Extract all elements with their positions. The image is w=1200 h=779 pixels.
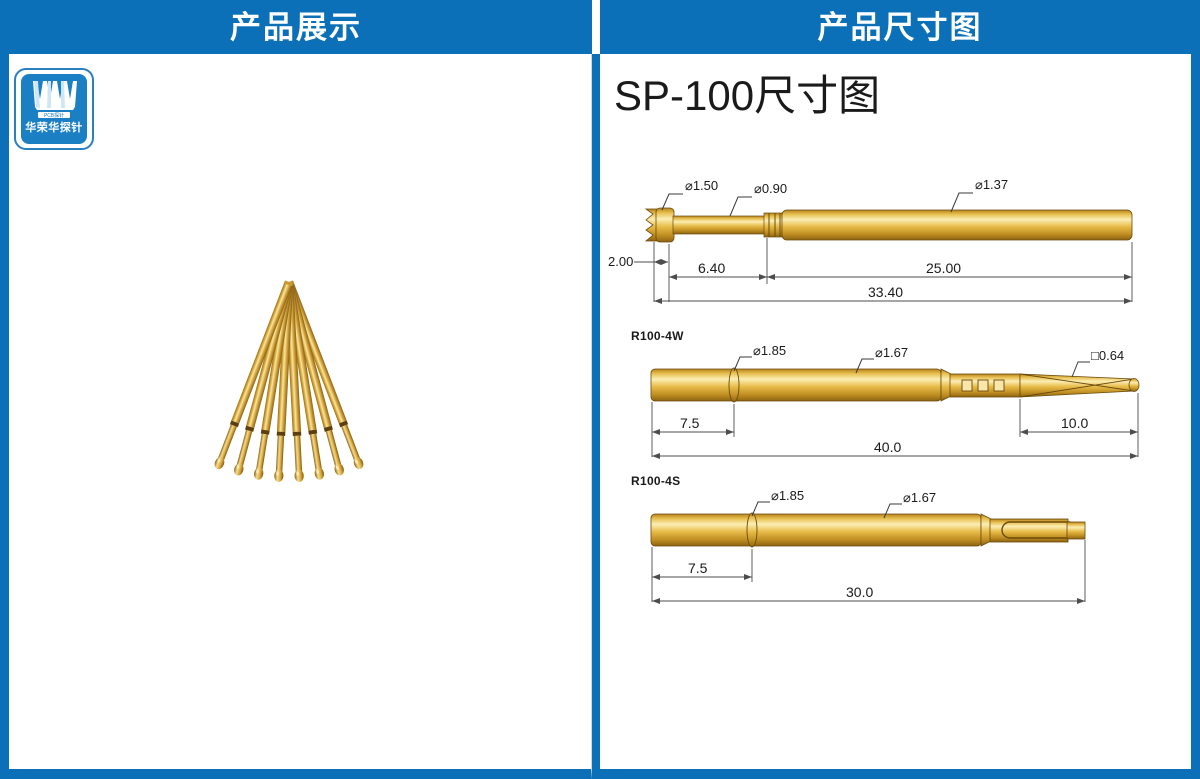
callout-diameter-1: ⌀1.85 (771, 488, 804, 503)
dimension-drawing-body: SP-100尺寸图 (600, 54, 1200, 779)
dimension-2-00 (634, 259, 668, 265)
brand-logo-inner: PCB探针 华荣华探针 (21, 74, 87, 144)
callout-diameter-2: ⌀1.67 (875, 345, 908, 360)
callout-diameter-3: ⌀1.37 (975, 177, 1008, 192)
crown-mark-icon: PCB探针 (27, 77, 81, 121)
drawing-r100-4s: R100-4S (606, 474, 1186, 619)
product-showcase-panel: 产品展示 PCB探针 华荣华探针 (0, 0, 592, 779)
dimension-label-7-5: 7.5 (688, 560, 708, 576)
dimension-label-6-40: 6.40 (698, 260, 725, 276)
dimension-label-25-00: 25.00 (926, 260, 961, 276)
dimension-drawing-header: 产品尺寸图 (600, 0, 1200, 54)
brand-logo-text: 华荣华探针 (25, 123, 83, 134)
product-detail-page: 产品展示 PCB探针 华荣华探针 (0, 0, 1200, 779)
dimension-label-7-5: 7.5 (680, 415, 700, 431)
callout-square-1: □0.64 (1091, 348, 1124, 363)
dimension-label-10-0: 10.0 (1061, 415, 1088, 431)
dimension-label-33-40: 33.40 (868, 284, 903, 300)
panel-divider (592, 54, 600, 779)
dimension-drawing-panel: 产品尺寸图 SP-100尺寸图 (600, 0, 1200, 779)
product-showcase-header: 产品展示 (0, 0, 592, 54)
dimension-label-2-00: 2.00 (608, 254, 633, 269)
dimension-label-30-0: 30.0 (846, 584, 873, 600)
page-title: SP-100尺寸图 (614, 75, 880, 117)
svg-text:PCB探针: PCB探针 (44, 112, 64, 119)
product-photo: PCB探针 华荣华探针 (9, 54, 591, 769)
brand-logo: PCB探针 华荣华探针 (14, 68, 94, 150)
drawing-sp100-svg: ⌀1.50 ⌀0.90 ⌀1.37 (606, 164, 1186, 339)
drawing-r100-4s-svg: ⌀1.85 ⌀1.67 7.5 (606, 474, 1186, 619)
callout-diameter-1: ⌀1.50 (685, 178, 718, 193)
dimension-label-40-0: 40.0 (874, 439, 901, 455)
callout-diameter-1: ⌀1.85 (753, 343, 786, 358)
drawing-sp100: ⌀1.50 ⌀0.90 ⌀1.37 (606, 164, 1186, 339)
drawing-r100-4w-svg: ⌀1.85 ⌀1.67 □0.64 (606, 329, 1186, 474)
probe-pins-illustration (139, 254, 439, 554)
divider-top-gap (592, 0, 600, 8)
callout-diameter-2: ⌀1.67 (903, 490, 936, 505)
callout-diameter-2: ⌀0.90 (754, 181, 787, 196)
drawing-r100-4w: R100-4W (606, 329, 1186, 474)
